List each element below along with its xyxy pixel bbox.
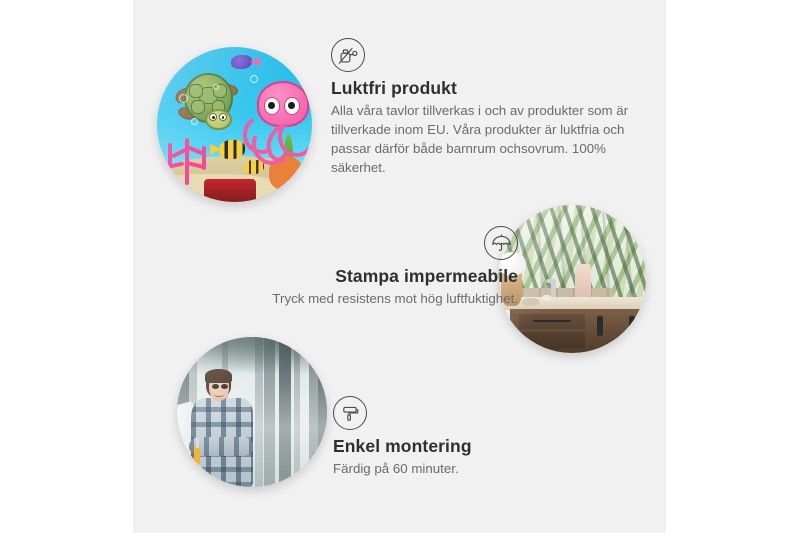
turtle-shape: [174, 73, 242, 132]
feature-title: Luktfri produkt: [331, 78, 636, 99]
feature-description: Tryck med resistens mot hög luftfuktighe…: [188, 290, 518, 309]
feature-image-odourless: [157, 47, 312, 202]
octopus-shape: [247, 81, 309, 162]
feature-description: Färdig på 60 minuter.: [333, 460, 633, 479]
feature-description: Alla våra tavlor tillverkas i och av pro…: [331, 102, 636, 178]
no-smell-perfume-icon: [331, 38, 365, 72]
promo-graphic: Luktfri produkt Alla våra tavlor tillver…: [0, 0, 800, 533]
feature-title: Enkel montering: [333, 436, 633, 457]
person-shape: [186, 367, 270, 487]
content-panel: Luktfri produkt Alla våra tavlor tillver…: [133, 0, 666, 533]
feature-easy-mounting: Enkel montering Färdig på 60 minuter.: [333, 396, 633, 479]
umbrella-icon: [484, 226, 518, 260]
paint-roller-icon: [333, 396, 367, 430]
feature-image-waterproof: [498, 205, 646, 353]
feature-image-easy-mounting: [177, 337, 327, 487]
coral-shape: [166, 132, 213, 185]
feature-waterproof: Stampa impermeabile Tryck med resistens …: [188, 226, 518, 309]
feature-odourless: Luktfri produkt Alla våra tavlor tillver…: [331, 38, 636, 178]
feature-title: Stampa impermeabile: [188, 266, 518, 287]
